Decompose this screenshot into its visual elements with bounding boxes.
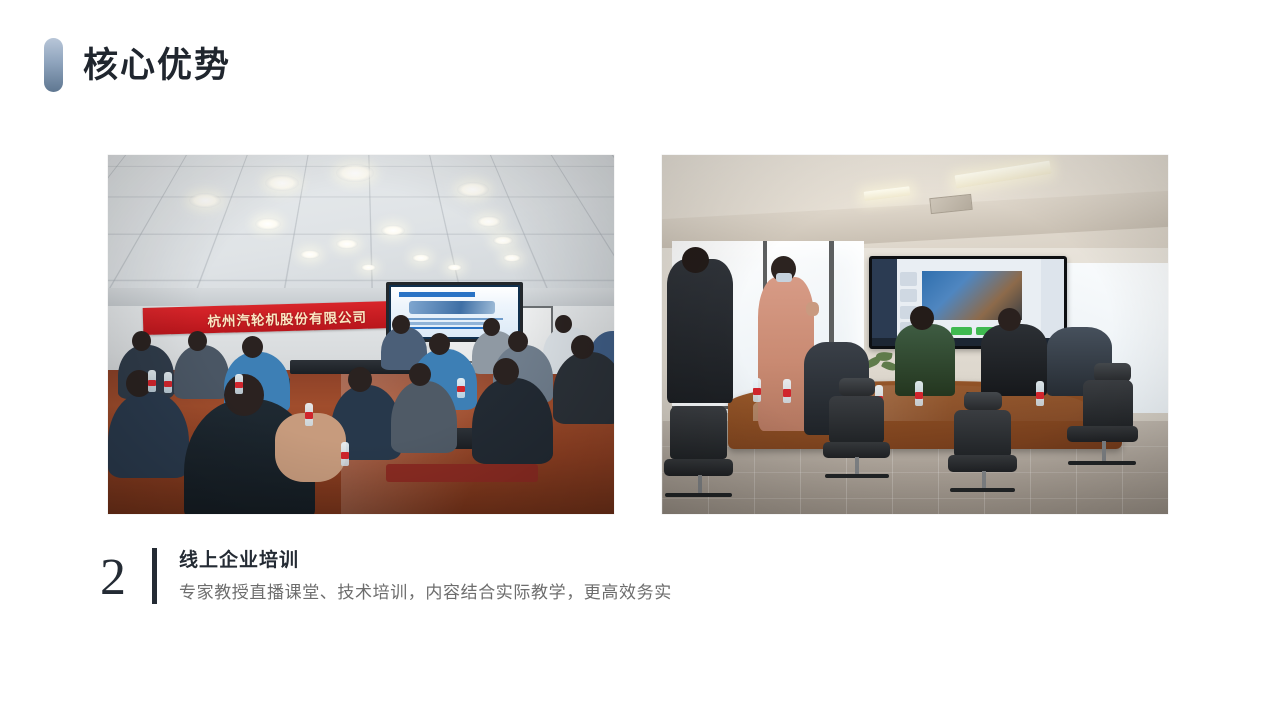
conference-room-photo [662,155,1168,514]
caption-texts: 线上企业培训 专家教授直播课堂、技术培训，内容结合实际教学，更高效务实 [179,548,672,604]
title-accent-pill-icon [44,38,63,92]
caption-block: 2 线上企业培训 专家教授直播课堂、技术培训，内容结合实际教学，更高效务实 [100,548,672,604]
caption-title: 线上企业培训 [179,551,672,570]
photo-vignette [108,155,614,514]
photo-vignette [662,155,1168,514]
item-number: 2 [100,548,152,604]
classroom-training-photo: 杭州汽轮机股份有限公司 [108,155,614,514]
page-title: 核心优势 [83,48,231,83]
slide-canvas: 核心优势 杭州汽轮机股份有限公司 [0,0,1280,720]
page-title-row: 核心优势 [44,38,231,92]
caption-divider-bar [152,548,157,604]
caption-subtitle: 专家教授直播课堂、技术培训，内容结合实际教学，更高效务实 [179,584,672,601]
